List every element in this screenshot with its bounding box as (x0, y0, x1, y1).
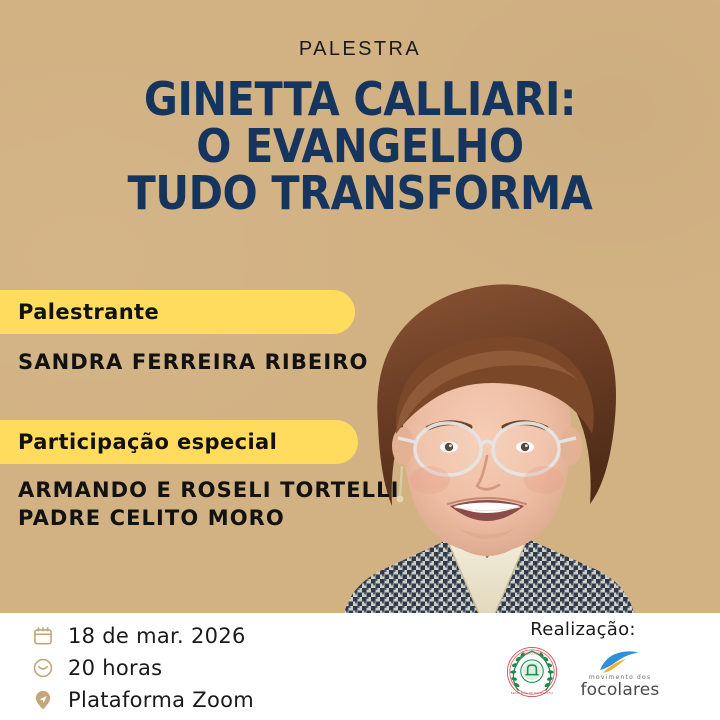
poster-footer: 18 de mar. 2026 20 horas (0, 613, 720, 720)
associacao-brasileira-emblem: ASSOCIACAO BRASILEIRA DE HOMEOPATIA (506, 646, 558, 703)
palestrante-name-1: SANDRA FERREIRA RIBEIRO (18, 348, 369, 376)
palestrante-names: SANDRA FERREIRA RIBEIRO (18, 348, 369, 376)
detail-row-location: Plataforma Zoom (30, 685, 254, 715)
realizacao-logos: ASSOCIACAO BRASILEIRA DE HOMEOPATIA movi… (468, 646, 698, 703)
page-title: GINETTA CALLIARI: O EVANGELHO TUDO TRANS… (0, 76, 720, 217)
kicker-label: PALESTRA (0, 38, 720, 61)
detail-text-location: Plataforma Zoom (68, 688, 254, 712)
calendar-icon (30, 623, 56, 649)
svg-text:ASSOCIACAO: ASSOCIACAO (523, 651, 542, 655)
location-pin-icon (30, 687, 56, 713)
realizacao-block: Realização: (468, 619, 698, 703)
realizacao-label: Realização: (468, 619, 698, 640)
palestrante-pill-label: Palestrante (0, 300, 159, 324)
title-line-2: O EVANGELHO (0, 123, 720, 170)
title-line-3: TUDO TRANSFORMA (0, 170, 720, 217)
event-details: 18 de mar. 2026 20 horas (30, 621, 254, 717)
detail-text-time: 20 horas (68, 656, 162, 680)
detail-text-date: 18 de mar. 2026 (68, 624, 246, 648)
palestrante-pill: Palestrante (0, 290, 355, 334)
title-line-1: GINETTA CALLIARI: (0, 76, 720, 123)
participacao-name-1: ARMANDO E ROSELI TORTELLI (18, 476, 400, 504)
svg-text:BRASILEIRA DE HOMEOPATIA: BRASILEIRA DE HOMEOPATIA (511, 691, 554, 695)
poster-canvas: PALESTRA GINETTA CALLIARI: O EVANGELHO T… (0, 0, 720, 720)
focolare-main-label: focolares (580, 681, 659, 699)
participacao-pill: Participação especial (0, 420, 358, 464)
detail-row-date: 18 de mar. 2026 (30, 621, 254, 651)
participacao-names: ARMANDO E ROSELI TORTELLI PADRE CELITO M… (18, 476, 400, 532)
participacao-pill-label: Participação especial (0, 430, 277, 454)
clock-icon (30, 655, 56, 681)
participacao-name-2: PADRE CELITO MORO (18, 504, 400, 532)
detail-row-time: 20 horas (30, 653, 254, 683)
focolare-logo: movimento dos focolares (580, 650, 659, 699)
